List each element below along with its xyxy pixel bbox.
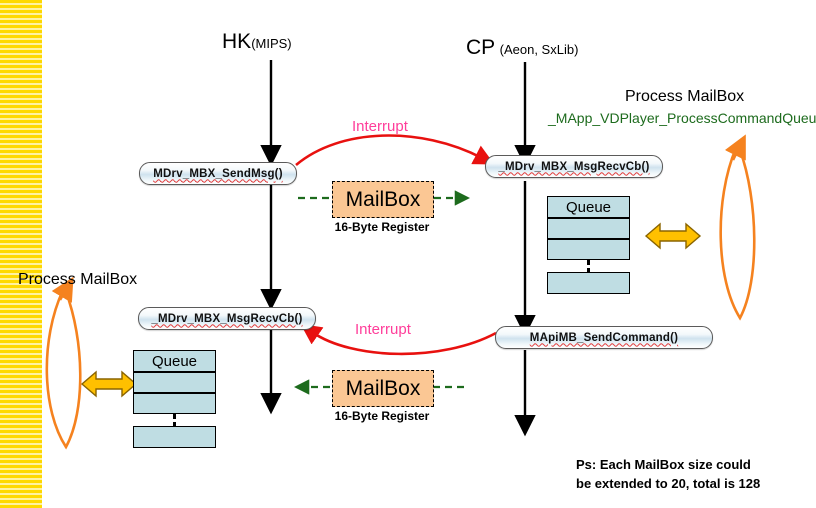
queue-right-connector (547, 260, 630, 272)
process-mailbox-loop-right (721, 146, 755, 318)
queue-header-label: Queue (566, 199, 611, 216)
queue-left-detached-cell (133, 426, 216, 448)
connector-overlay (0, 0, 816, 508)
function-box-mapimb-sendcommand[interactable]: MApiMB_SendCommand() (495, 326, 713, 349)
hk-title: HK (222, 30, 251, 53)
mailbox-bottom[interactable]: MailBox (332, 370, 434, 407)
mailbox-top-caption: 16-Byte Register (322, 220, 442, 234)
cp-subtitle: (Aeon, SxLib) (500, 42, 579, 57)
exchange-arrow-left (82, 372, 136, 396)
queue-right-cell-1 (547, 218, 630, 239)
queue-right-cell-2 (547, 239, 630, 260)
function-box-label: _MDrv_MBX_MsgRecvCb() (498, 161, 649, 173)
queue-right-detached-cell (547, 272, 630, 294)
queue-right: Queue (547, 196, 630, 294)
function-box-label: _MDrv_MBX_MsgRecvCb() (151, 313, 302, 325)
mailbox-top-label: MailBox (346, 188, 421, 212)
interrupt-arrow-top (296, 136, 482, 165)
diagram-canvas: HK(MIPS) CP (Aeon, SxLib) Process MailBo… (0, 0, 816, 508)
queue-left-cell-1 (133, 372, 216, 393)
ps-note-line-1: Ps: Each MailBox size could (576, 455, 760, 474)
ps-note-line-2: be extended to 20, total is 128 (576, 474, 760, 493)
interrupt-label-bottom: Interrupt (355, 321, 411, 338)
function-box-mdrv-mbx-msgrecvcb-cp[interactable]: _MDrv_MBX_MsgRecvCb() (485, 155, 663, 178)
function-box-mdrv-mbx-msgrecvcb-hk[interactable]: _MDrv_MBX_MsgRecvCb() (138, 307, 316, 330)
mailbox-bottom-caption: 16-Byte Register (322, 409, 442, 423)
mailbox-top[interactable]: MailBox (332, 181, 434, 218)
cp-title: CP (466, 36, 495, 59)
queue-left: Queue (133, 350, 216, 448)
queue-header-label: Queue (152, 353, 197, 370)
column-header-hk: HK(MIPS) (222, 30, 292, 54)
ps-note: Ps: Each MailBox size could be extended … (576, 455, 760, 493)
column-header-cp: CP (Aeon, SxLib) (466, 36, 578, 60)
process-mailbox-left-label: Process MailBox (18, 271, 137, 289)
process-mailbox-loop-left (47, 288, 80, 447)
left-yellow-stripe-bar (0, 0, 42, 508)
queue-left-header: Queue (133, 350, 216, 372)
queue-left-cell-2 (133, 393, 216, 414)
exchange-arrow-right (646, 224, 700, 248)
function-box-label: MApiMB_SendCommand() (530, 332, 678, 344)
interrupt-label-top: Interrupt (352, 118, 408, 135)
function-box-mdrv-mbx-sendmsg[interactable]: MDrv_MBX_SendMsg() (139, 162, 297, 185)
mailbox-bottom-label: MailBox (346, 377, 421, 401)
hk-subtitle: (MIPS) (251, 36, 291, 51)
queue-left-connector (133, 414, 216, 426)
queue-right-header: Queue (547, 196, 630, 218)
function-box-label: MDrv_MBX_SendMsg() (153, 168, 282, 180)
process-mailbox-right-function: _MApp_VDPlayer_ProcessCommandQueue() (548, 110, 816, 126)
process-mailbox-right-label: Process MailBox (625, 88, 744, 106)
